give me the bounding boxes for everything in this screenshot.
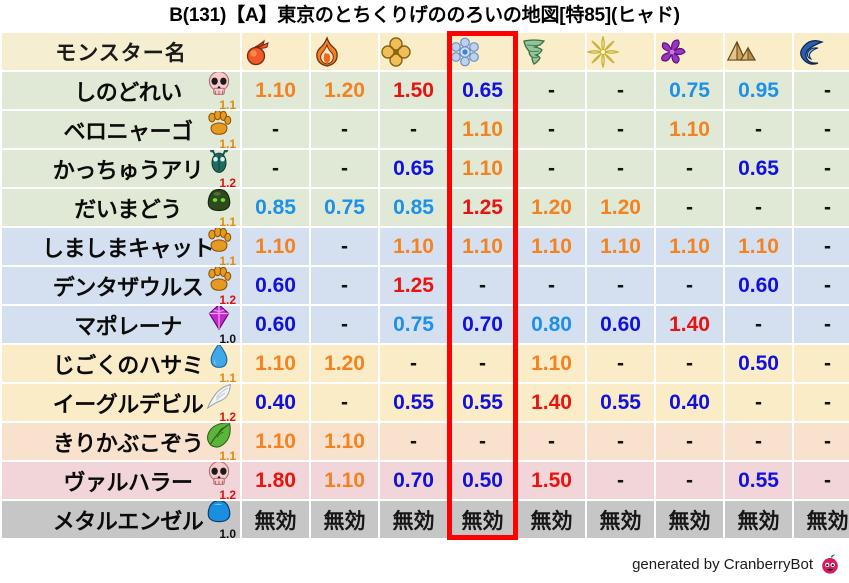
slime-blue-icon <box>205 501 233 526</box>
resistance-cell: - <box>794 189 849 226</box>
resistance-cell: - <box>311 306 378 343</box>
monster-name-cell[interactable]: きりかぶこぞう1.1 <box>2 423 240 460</box>
monster-name-label: だいまどう <box>60 192 182 224</box>
monster-name-cell[interactable]: メタルエンゼル1.0 <box>2 501 240 538</box>
resistance-cell: 無効 <box>518 501 585 538</box>
mountain-icon <box>725 36 792 68</box>
table-row: デンタザウルス1.20.60-1.25----0.60- <box>2 267 849 304</box>
resistance-cell: 1.10 <box>449 150 516 187</box>
monster-type-badge: 1.0 <box>202 306 236 343</box>
resistance-cell: - <box>656 462 723 499</box>
resistance-cell: 1.10 <box>449 111 516 148</box>
resistance-cell: - <box>449 423 516 460</box>
resistance-cell: 0.55 <box>380 384 447 421</box>
monster-type-badge: 1.0 <box>202 501 236 538</box>
monster-name-cell[interactable]: じごくのハサミ1.1 <box>2 345 240 382</box>
resistance-cell: 無効 <box>311 501 378 538</box>
wing-icon <box>205 384 233 409</box>
monster-type-badge: 1.1 <box>202 423 236 460</box>
monster-type-badge: 1.2 <box>202 150 236 187</box>
monster-name-label: ベロニャーゴ <box>49 114 192 146</box>
resistance-cell: - <box>725 423 792 460</box>
resistance-cell: - <box>794 72 849 109</box>
resistance-cell: - <box>656 150 723 187</box>
paw-icon <box>205 267 233 292</box>
purple-crystal-icon <box>205 306 233 331</box>
resistance-cell: 1.10 <box>656 111 723 148</box>
resistance-cell: - <box>587 72 654 109</box>
resistance-cell: 0.85 <box>242 189 309 226</box>
resistance-cell: 無効 <box>380 501 447 538</box>
resistance-cell: 1.20 <box>311 345 378 382</box>
resistance-cell: - <box>794 228 849 265</box>
monster-type-badge: 1.1 <box>202 189 236 226</box>
tornado-icon <box>518 36 585 68</box>
resistance-cell: - <box>587 423 654 460</box>
resistance-cell: 0.65 <box>725 150 792 187</box>
monster-type-badge: 1.1 <box>202 345 236 382</box>
monster-multiplier: 1.1 <box>219 138 236 148</box>
monster-name-label: しのどれい <box>60 75 182 107</box>
monster-multiplier: 1.2 <box>219 177 236 187</box>
resistance-cell: 無効 <box>794 501 849 538</box>
resistance-cell: 0.65 <box>449 72 516 109</box>
resistance-cell: 0.75 <box>380 306 447 343</box>
monster-multiplier: 1.1 <box>219 372 236 382</box>
purple-swirl-icon <box>656 36 723 68</box>
resistance-cell: 0.55 <box>725 462 792 499</box>
paw-icon <box>205 111 233 136</box>
resistance-cell: 1.50 <box>518 462 585 499</box>
monster-name-cell[interactable]: マポレーナ1.0 <box>2 306 240 343</box>
resistance-cell: - <box>242 150 309 187</box>
resistance-cell: 0.55 <box>449 384 516 421</box>
resistance-cell: - <box>518 423 585 460</box>
element-header-dein[interactable] <box>587 33 654 70</box>
monster-name-cell[interactable]: かっちゅうアリ1.2 <box>2 150 240 187</box>
table-row: ヴァルハラー1.21.801.100.700.501.50--0.55- <box>2 462 849 499</box>
resistance-cell: - <box>518 72 585 109</box>
resistance-cell: - <box>380 111 447 148</box>
table-row: ベロニャーゴ1.1---1.10--1.10-- <box>2 111 849 148</box>
wave-icon <box>794 36 849 68</box>
resistance-cell: 1.10 <box>380 228 447 265</box>
monster-name-cell[interactable]: ヴァルハラー1.2 <box>2 462 240 499</box>
fireball-icon <box>242 36 309 68</box>
table-row: かっちゅうアリ1.2--0.651.10---0.65- <box>2 150 849 187</box>
monster-name-label: きりかぶこぞう <box>39 426 204 458</box>
resistance-cell: 無効 <box>242 501 309 538</box>
monster-name-cell[interactable]: しましまキャット1.1 <box>2 228 240 265</box>
table-header-row: モンスター名 <box>2 33 849 70</box>
resistance-cell: 0.70 <box>449 306 516 343</box>
bug-icon <box>205 150 233 175</box>
resistance-cell: 0.60 <box>725 267 792 304</box>
element-header-bagi[interactable] <box>518 33 585 70</box>
resistance-cell: 1.10 <box>587 228 654 265</box>
skull-icon <box>205 72 233 97</box>
monster-name-label: メタルエンゼル <box>39 504 204 536</box>
resistance-cell: - <box>794 150 849 187</box>
flame-icon <box>311 36 378 68</box>
monster-name-label: しましまキャット <box>28 231 214 263</box>
resistance-cell: - <box>725 384 792 421</box>
resistance-cell: 1.10 <box>242 228 309 265</box>
table-row: しましまキャット1.11.10-1.101.101.101.101.101.10… <box>2 228 849 265</box>
resistance-cell: 0.60 <box>242 306 309 343</box>
resistance-cell: 0.40 <box>242 384 309 421</box>
resistance-cell: - <box>794 111 849 148</box>
resistance-cell: - <box>449 345 516 382</box>
resistance-cell: 1.10 <box>242 72 309 109</box>
table-row: しのどれい1.11.101.201.500.65--0.750.95- <box>2 72 849 109</box>
resistance-cell: 1.10 <box>725 228 792 265</box>
monster-type-badge: 1.2 <box>202 267 236 304</box>
resistance-cell: 0.75 <box>656 72 723 109</box>
resistance-cell: 1.10 <box>518 228 585 265</box>
monster-multiplier: 1.1 <box>219 99 236 109</box>
page-title: B(131)【A】東京のとちくりげののろいの地図[特85](ヒャド) <box>0 2 849 30</box>
resistance-cell: - <box>656 345 723 382</box>
monster-name-label: じごくのハサミ <box>39 348 204 380</box>
resistance-cell: - <box>587 267 654 304</box>
monster-name-header: モンスター名 <box>2 33 240 70</box>
resistance-cell: - <box>794 384 849 421</box>
resistance-cell: - <box>311 150 378 187</box>
resistance-cell: 無効 <box>587 501 654 538</box>
element-header-gira[interactable] <box>311 33 378 70</box>
monster-multiplier: 1.0 <box>219 333 236 343</box>
resistance-cell: - <box>311 111 378 148</box>
resistance-cell: - <box>656 423 723 460</box>
resistance-cell: 1.10 <box>242 423 309 460</box>
resistance-cell: - <box>311 384 378 421</box>
monster-type-badge: 1.1 <box>202 228 236 265</box>
resistance-cell: - <box>656 189 723 226</box>
resistance-cell: 0.60 <box>242 267 309 304</box>
resistance-cell: - <box>587 150 654 187</box>
resistance-cell: 0.50 <box>725 345 792 382</box>
resistance-cell: 1.25 <box>380 267 447 304</box>
monster-name-cell[interactable]: だいまどう1.1 <box>2 189 240 226</box>
resistance-cell: 0.85 <box>380 189 447 226</box>
element-header-jiba[interactable] <box>725 33 792 70</box>
resistance-cell: - <box>518 111 585 148</box>
resistance-cell: - <box>587 111 654 148</box>
leaf-icon <box>205 423 233 448</box>
monster-name-label: マポレーナ <box>60 309 182 341</box>
resistance-cell: - <box>242 111 309 148</box>
monster-name-cell[interactable]: イーグルデビル1.2 <box>2 384 240 421</box>
resistance-cell: - <box>518 150 585 187</box>
monster-name-label: デンタザウルス <box>39 270 204 302</box>
resistance-cell: 1.20 <box>518 189 585 226</box>
chart-page: B(131)【A】東京のとちくりげののろいの地図[特85](ヒャド) モンスター… <box>0 0 849 583</box>
resistance-cell: 1.40 <box>656 306 723 343</box>
resistance-cell: 0.60 <box>587 306 654 343</box>
monster-type-badge: 1.2 <box>202 462 236 499</box>
resistance-cell: - <box>587 462 654 499</box>
table-row: メタルエンゼル1.0無効無効無効無効無効無効無効無効無効 <box>2 501 849 538</box>
clover-icon <box>380 36 447 68</box>
resistance-cell: - <box>794 462 849 499</box>
resistance-cell: 1.10 <box>242 345 309 382</box>
resistance-cell: 1.10 <box>518 345 585 382</box>
resistance-cell: 1.20 <box>311 72 378 109</box>
element-header-mera2[interactable] <box>794 33 849 70</box>
resistance-cell: 1.10 <box>656 228 723 265</box>
monster-type-badge: 1.1 <box>202 72 236 109</box>
resistance-cell: 0.80 <box>518 306 585 343</box>
resistance-cell: 1.40 <box>518 384 585 421</box>
monster-multiplier: 1.1 <box>219 450 236 460</box>
waterdrop-icon <box>205 345 233 370</box>
resistance-cell: - <box>311 228 378 265</box>
element-header-hyado[interactable] <box>449 33 516 70</box>
resistance-cell: 0.75 <box>311 189 378 226</box>
paw-icon <box>205 228 233 253</box>
table-row: だいまどう1.10.850.750.851.251.201.20--- <box>2 189 849 226</box>
skull-icon <box>205 462 233 487</box>
monster-name-cell[interactable]: しのどれい1.1 <box>2 72 240 109</box>
resistance-cell: 0.55 <box>587 384 654 421</box>
resistance-cell: 1.80 <box>242 462 309 499</box>
footer: generated by CranberryBot <box>632 551 841 577</box>
monster-type-badge: 1.2 <box>202 384 236 421</box>
table-row: じごくのハサミ1.11.101.20--1.10--0.50- <box>2 345 849 382</box>
resistance-cell: - <box>587 345 654 382</box>
resistance-cell: 0.40 <box>656 384 723 421</box>
resistance-cell: 1.25 <box>449 189 516 226</box>
monster-name-label: ヴァルハラー <box>49 465 192 497</box>
monster-multiplier: 1.2 <box>219 489 236 499</box>
slime-dark-icon <box>205 189 233 214</box>
resistance-cell: - <box>725 306 792 343</box>
element-header-hyado_x[interactable] <box>380 33 447 70</box>
monster-multiplier: 1.0 <box>219 528 236 538</box>
starburst-icon <box>587 36 654 68</box>
resistance-cell: - <box>518 267 585 304</box>
resistance-cell: - <box>794 267 849 304</box>
monster-multiplier: 1.2 <box>219 411 236 421</box>
monster-name-cell[interactable]: ベロニャーゴ1.1 <box>2 111 240 148</box>
element-header-mera[interactable] <box>242 33 309 70</box>
resistance-cell: 無効 <box>725 501 792 538</box>
resistance-cell: 0.50 <box>449 462 516 499</box>
resistance-cell: 0.70 <box>380 462 447 499</box>
resistance-cell: 1.10 <box>449 228 516 265</box>
resistance-cell: 1.10 <box>311 423 378 460</box>
resistance-cell: - <box>725 189 792 226</box>
table-row: マポレーナ1.00.60-0.750.700.800.601.40-- <box>2 306 849 343</box>
resistance-cell: 0.65 <box>380 150 447 187</box>
table-row: イーグルデビル1.20.40-0.550.551.400.550.40-- <box>2 384 849 421</box>
resistance-cell: - <box>794 306 849 343</box>
resistance-cell: - <box>380 345 447 382</box>
monster-type-badge: 1.1 <box>202 111 236 148</box>
resistance-cell: - <box>794 345 849 382</box>
monster-multiplier: 1.1 <box>219 216 236 226</box>
snowflake-icon <box>449 36 516 68</box>
monster-multiplier: 1.1 <box>219 255 236 265</box>
monster-name-label: かっちゅうアリ <box>39 153 204 185</box>
resistance-table: モンスター名 しのどれい1.11.101.201.500.65--0.750.9… <box>0 31 849 540</box>
resistance-cell: 0.95 <box>725 72 792 109</box>
monster-name-label: イーグルデビル <box>39 387 204 419</box>
resistance-cell: - <box>311 267 378 304</box>
resistance-cell: - <box>725 111 792 148</box>
resistance-cell: 無効 <box>656 501 723 538</box>
footer-text: generated by CranberryBot <box>632 556 813 573</box>
resistance-cell: - <box>449 267 516 304</box>
resistance-cell: 1.10 <box>311 462 378 499</box>
resistance-cell: 1.50 <box>380 72 447 109</box>
monster-multiplier: 1.2 <box>219 294 236 304</box>
table-row: きりかぶこぞう1.11.101.10------- <box>2 423 849 460</box>
resistance-cell: 無効 <box>449 501 516 538</box>
monster-name-cell[interactable]: デンタザウルス1.2 <box>2 267 240 304</box>
resistance-cell: - <box>656 267 723 304</box>
cranberry-bot-icon <box>819 553 841 575</box>
resistance-cell: - <box>794 423 849 460</box>
resistance-cell: - <box>380 423 447 460</box>
element-header-dorma[interactable] <box>656 33 723 70</box>
resistance-cell: 1.20 <box>587 189 654 226</box>
